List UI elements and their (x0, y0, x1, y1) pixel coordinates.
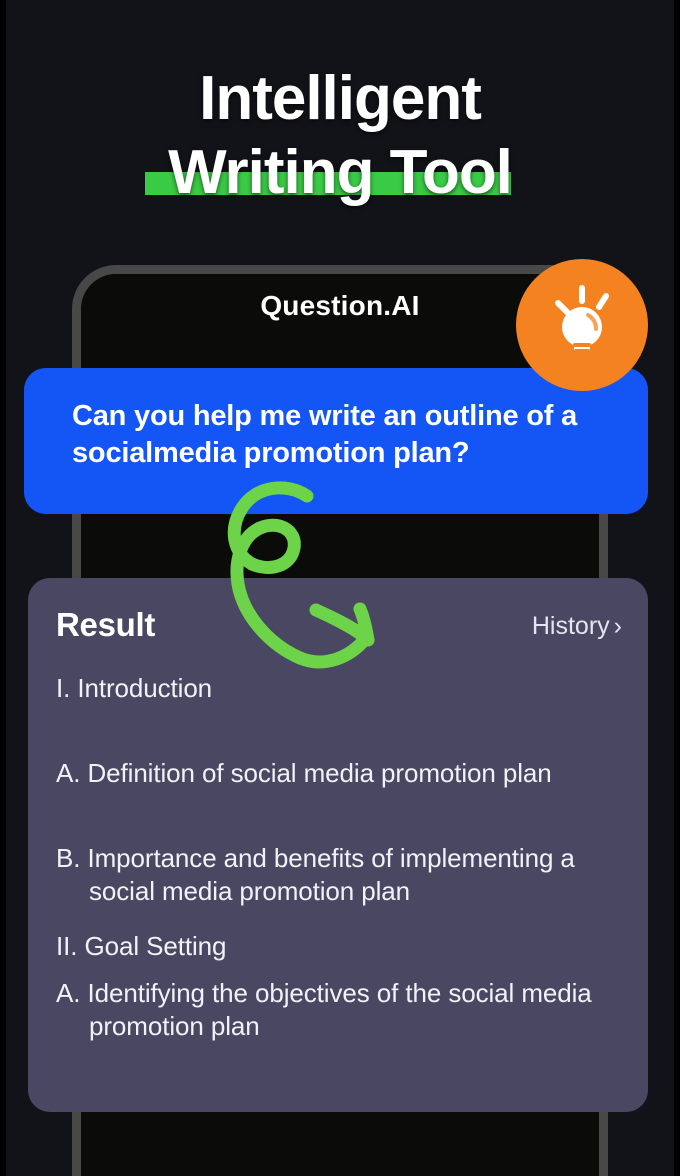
outline-spacer (56, 705, 636, 757)
outline-item: I. Introduction (56, 672, 636, 705)
outline-item: II. Goal Setting (56, 930, 636, 963)
outline-list: I. Introduction A. Definition of social … (56, 672, 636, 1043)
chevron-right-icon: › (614, 614, 622, 639)
promo-title-line-2: Writing Tool (0, 134, 680, 212)
outline-spacer (56, 908, 636, 930)
promo-screenshot: Intelligent Writing Tool Question.AI Can… (0, 0, 680, 1176)
history-label: History (532, 612, 610, 641)
promo-title: Intelligent Writing Tool (0, 60, 680, 212)
result-header: Result History › (28, 606, 648, 654)
outline-item: B. Importance and benefits of implementi… (56, 842, 636, 908)
result-title: Result (56, 606, 155, 644)
outline-item: A. Identifying the objectives of the soc… (56, 977, 636, 1043)
outline-spacer (56, 963, 636, 977)
result-panel: Result History › I. Introduction A. Defi… (28, 578, 648, 1112)
outline-spacer (56, 790, 636, 842)
promo-title-line-1: Intelligent (0, 60, 680, 138)
app-title: Question.AI (260, 290, 419, 321)
outline-item: A. Definition of social media promotion … (56, 757, 636, 790)
question-text: Can you help me write an outline of a so… (72, 398, 604, 472)
lightbulb-icon[interactable] (516, 259, 648, 391)
history-button[interactable]: History › (532, 612, 622, 641)
question-bubble: Can you help me write an outline of a so… (24, 368, 648, 514)
